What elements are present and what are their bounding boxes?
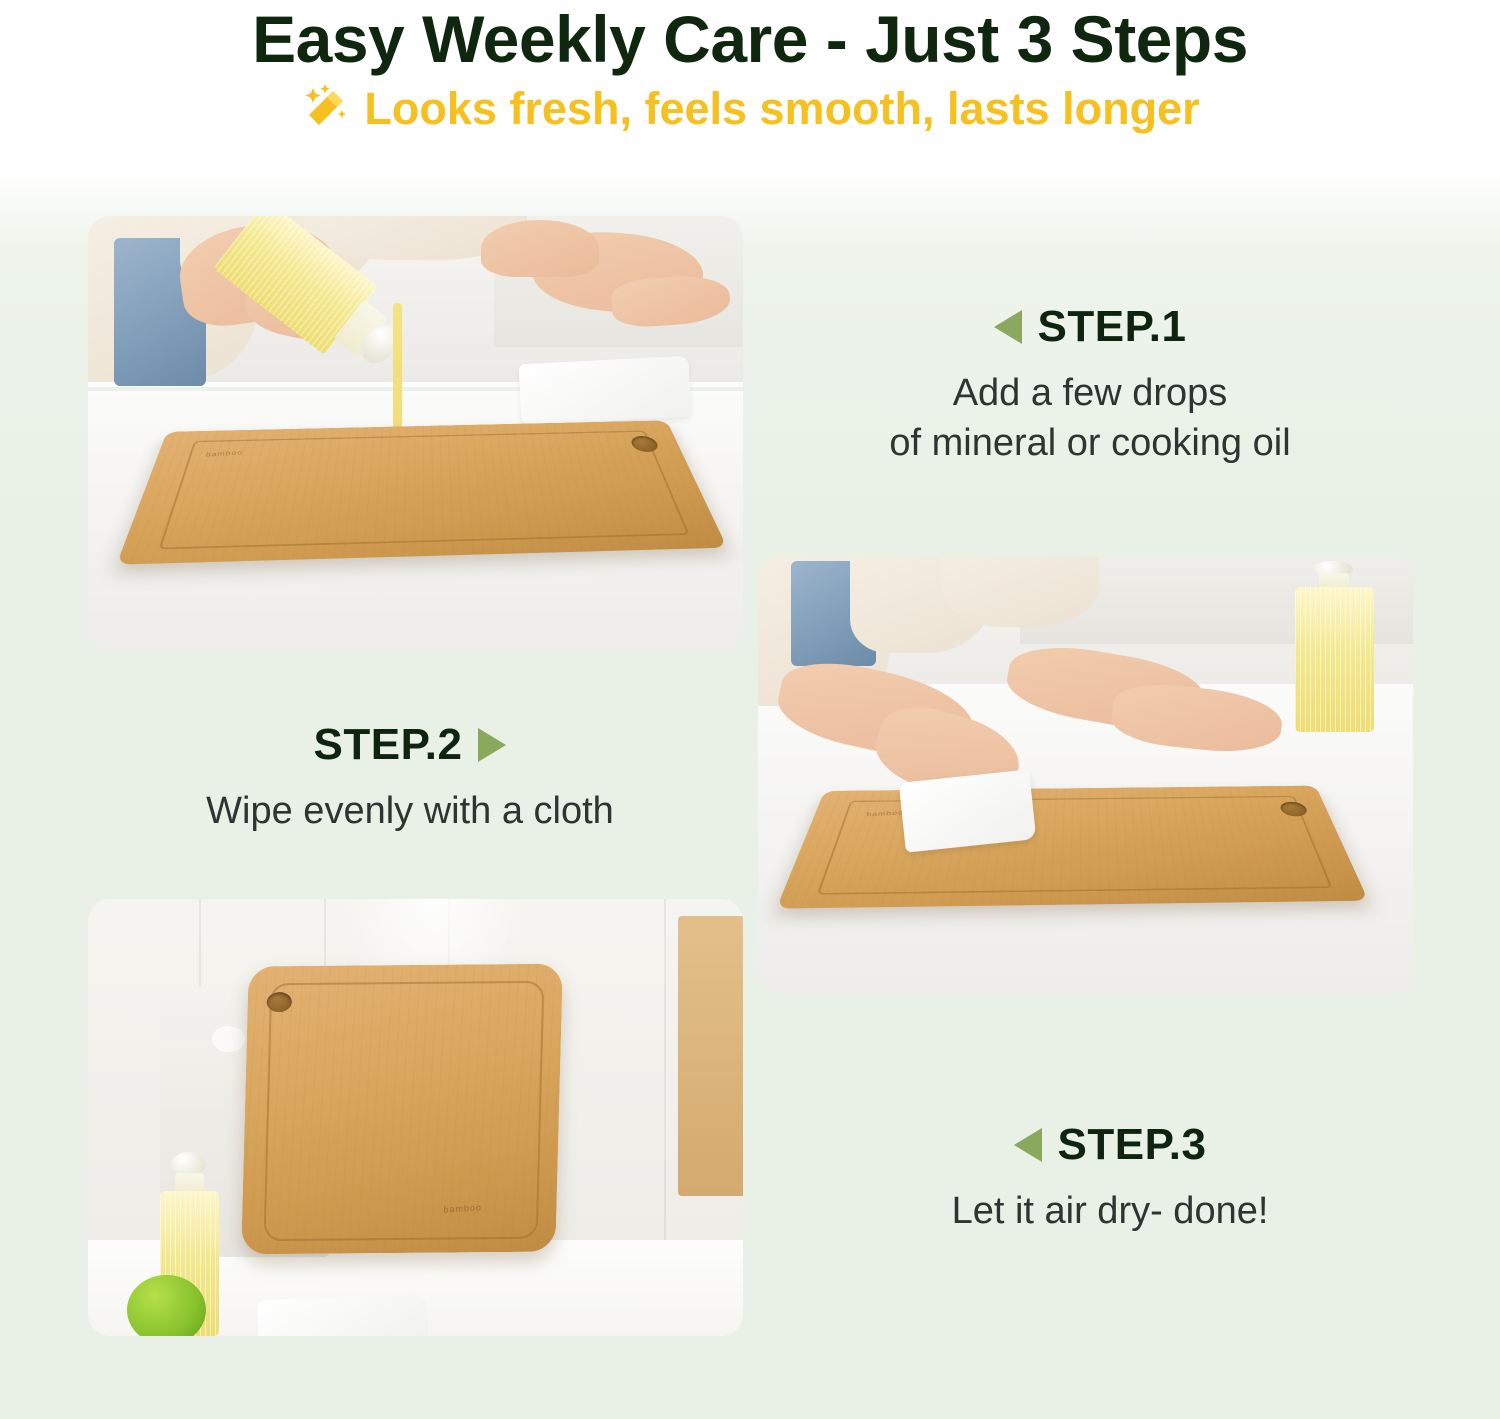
step-2-label: STEP.2: [314, 720, 463, 770]
photo-air-drying: bamboo: [88, 899, 743, 1336]
triangle-right-icon: [478, 728, 506, 762]
subtitle-row: Looks fresh, feels smooth, lasts longer: [0, 82, 1500, 136]
step-3-body: Let it air dry- done!: [780, 1186, 1440, 1236]
step-2-block: STEP.2 Wipe evenly with a cloth: [60, 720, 760, 836]
step-3-block: STEP.3 Let it air dry- done!: [780, 1120, 1440, 1236]
triangle-left-icon: [1014, 1128, 1042, 1162]
step-3-label: STEP.3: [1058, 1120, 1207, 1170]
photo-wiping-cloth: bamboo: [758, 557, 1413, 994]
header: Easy Weekly Care - Just 3 Steps Looks fr…: [0, 0, 1500, 136]
infographic-page: Easy Weekly Care - Just 3 Steps Looks fr…: [0, 0, 1500, 1419]
step-1-block: STEP.1 Add a few drops of mineral or coo…: [760, 302, 1420, 468]
step-1-label: STEP.1: [1038, 302, 1187, 352]
step-3-heading: STEP.3: [780, 1120, 1440, 1170]
page-title: Easy Weekly Care - Just 3 Steps: [0, 0, 1500, 76]
step-1-body: Add a few drops of mineral or cooking oi…: [760, 368, 1420, 468]
page-subtitle: Looks fresh, feels smooth, lasts longer: [364, 82, 1199, 136]
magic-wand-icon: [300, 82, 354, 136]
step-2-body: Wipe evenly with a cloth: [60, 786, 760, 836]
triangle-left-icon: [994, 310, 1022, 344]
photo-pouring-oil: bamboo: [88, 216, 743, 653]
step-2-heading: STEP.2: [60, 720, 760, 770]
step-1-heading: STEP.1: [760, 302, 1420, 352]
